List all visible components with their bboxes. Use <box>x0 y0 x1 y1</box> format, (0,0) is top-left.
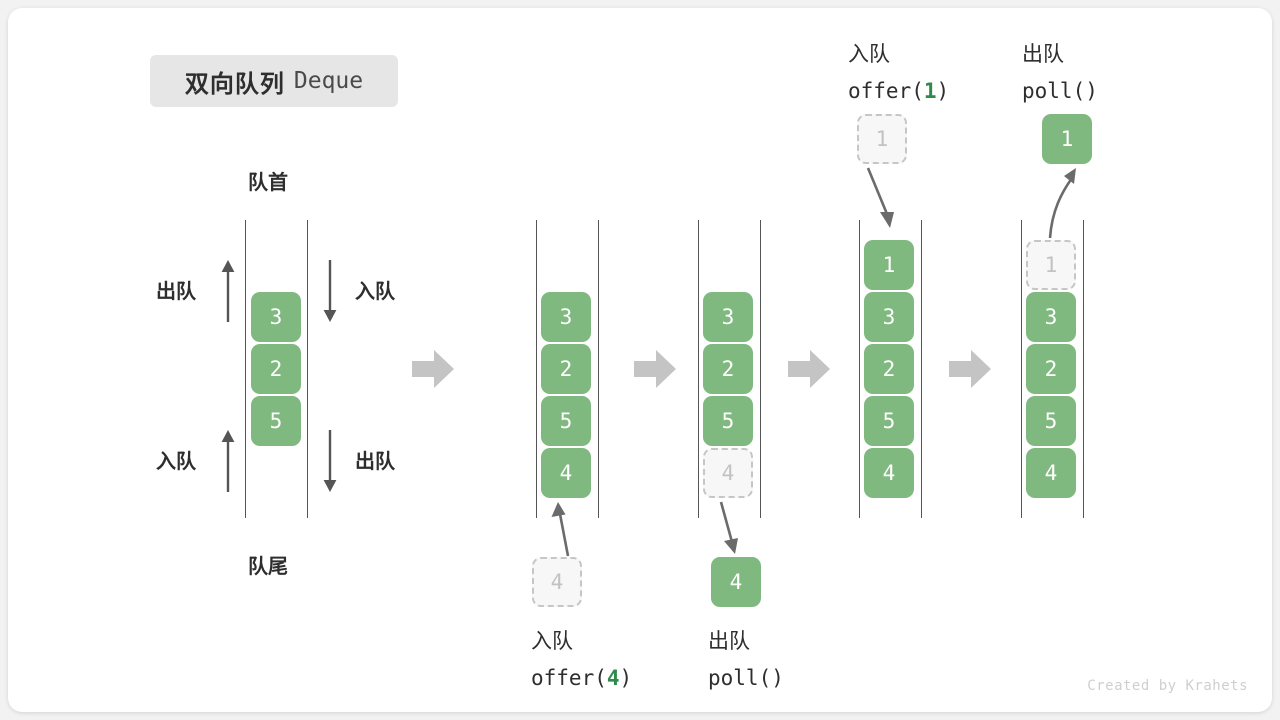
rail-right-col1 <box>307 220 308 518</box>
transition-arrow-icon <box>634 349 676 389</box>
value-box: 3 <box>1026 292 1076 342</box>
value-box: 5 <box>541 396 591 446</box>
caption-cn: 出队 <box>708 623 784 660</box>
floating-box: 1 <box>1042 114 1092 164</box>
caption-offer-rear: 入队 offer(4) <box>531 623 632 699</box>
value-box-new: 4 <box>541 448 591 498</box>
arrow-dequeue-rear-icon <box>713 502 753 556</box>
rail-right-col4 <box>921 220 922 518</box>
arrow-up-bottom-left-icon <box>216 430 240 492</box>
caption-cn: 入队 <box>848 36 949 73</box>
caption-code: poll() <box>1022 73 1098 112</box>
caption-code: poll() <box>708 660 784 699</box>
value-box: 2 <box>251 344 301 394</box>
rail-left-col5 <box>1021 220 1022 518</box>
value-box: 2 <box>1026 344 1076 394</box>
arrow-up-top-left-icon <box>216 260 240 322</box>
value-box-new: 1 <box>864 240 914 290</box>
caption-code: offer(4) <box>531 660 632 699</box>
arrow-down-bottom-right-icon <box>318 430 342 492</box>
value-box: 5 <box>251 396 301 446</box>
value-box: 4 <box>864 448 914 498</box>
credit-text: Created by Krahets <box>1087 678 1248 694</box>
value-box: 3 <box>541 292 591 342</box>
legend-label-bottom-right: 出队 <box>355 445 395 474</box>
value-box: 4 <box>1026 448 1076 498</box>
floating-ghost-box: 4 <box>532 557 582 607</box>
title-en: Deque <box>294 68 363 94</box>
arrow-enqueue-front-icon <box>860 168 904 230</box>
rail-left-col2 <box>536 220 537 518</box>
floating-box: 4 <box>711 557 761 607</box>
arrow-dequeue-front-icon <box>1038 168 1084 240</box>
value-box: 5 <box>864 396 914 446</box>
value-box: 2 <box>703 344 753 394</box>
value-box-removed: 1 <box>1026 240 1076 290</box>
value-box: 5 <box>703 396 753 446</box>
caption-cn: 入队 <box>531 623 632 660</box>
value-box-removed: 4 <box>703 448 753 498</box>
rail-left-col4 <box>859 220 860 518</box>
transition-arrow-icon <box>949 349 991 389</box>
caption-poll-rear: 出队 poll() <box>708 623 784 699</box>
diagram-card: 双向队列 Deque 队首 队尾 3 2 5 出队 入队 入队 出队 3 2 5… <box>8 8 1272 712</box>
transition-arrow-icon <box>788 349 830 389</box>
floating-ghost-box: 1 <box>857 114 907 164</box>
value-box: 3 <box>703 292 753 342</box>
rail-left-col3 <box>698 220 699 518</box>
value-box: 2 <box>864 344 914 394</box>
value-box: 2 <box>541 344 591 394</box>
front-label: 队首 <box>248 166 288 195</box>
transition-arrow-icon <box>412 349 454 389</box>
arrow-down-top-right-icon <box>318 260 342 322</box>
caption-code: offer(1) <box>848 73 949 112</box>
rail-left-col1 <box>245 220 246 518</box>
caption-cn: 出队 <box>1022 36 1098 73</box>
rail-right-col2 <box>598 220 599 518</box>
caption-poll-front: 出队 poll() <box>1022 36 1098 112</box>
value-box: 3 <box>251 292 301 342</box>
legend-label-bottom-left: 入队 <box>156 445 196 474</box>
legend-label-top-right: 入队 <box>355 275 395 304</box>
arrow-enqueue-rear-icon <box>548 500 588 558</box>
value-box: 5 <box>1026 396 1076 446</box>
diagram-title: 双向队列 Deque <box>150 55 398 107</box>
title-cn: 双向队列 <box>185 64 285 99</box>
rear-label: 队尾 <box>248 550 288 579</box>
rail-right-col3 <box>760 220 761 518</box>
rail-right-col5 <box>1083 220 1084 518</box>
value-box: 3 <box>864 292 914 342</box>
caption-offer-front: 入队 offer(1) <box>848 36 949 112</box>
legend-label-top-left: 出队 <box>156 275 196 304</box>
